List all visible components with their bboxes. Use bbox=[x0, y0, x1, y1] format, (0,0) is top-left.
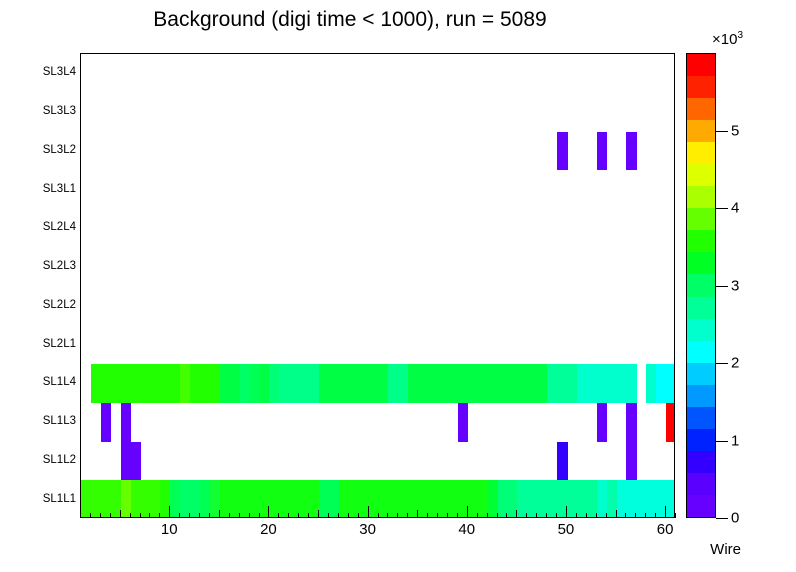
x-tick bbox=[536, 513, 537, 518]
x-tick bbox=[635, 513, 636, 518]
heatmap-cell bbox=[626, 403, 637, 442]
color-scale-band bbox=[687, 451, 715, 473]
heatmap-cell bbox=[626, 364, 637, 403]
heatmap-cell bbox=[121, 403, 132, 442]
y-axis-label-sl1l1: SL1L1 bbox=[4, 493, 76, 505]
color-scale-label-1: 1 bbox=[731, 432, 739, 449]
color-scale-band bbox=[687, 142, 715, 164]
x-tick bbox=[140, 513, 141, 518]
x-tick bbox=[477, 513, 478, 518]
x-tick bbox=[229, 513, 230, 518]
color-scale-band bbox=[687, 341, 715, 363]
y-axis-label-sl1l4: SL1L4 bbox=[4, 376, 76, 388]
heatmap-cell bbox=[101, 403, 112, 442]
color-scale-band bbox=[687, 319, 715, 341]
x-tick bbox=[298, 513, 299, 518]
color-scale-tick bbox=[716, 441, 728, 442]
color-scale-bar bbox=[686, 53, 716, 518]
x-tick bbox=[288, 513, 289, 518]
x-tick bbox=[368, 506, 369, 518]
x-tick bbox=[397, 513, 398, 518]
color-scale-band bbox=[687, 76, 715, 98]
x-tick bbox=[328, 513, 329, 518]
color-scale-exponent: ×103 bbox=[712, 30, 743, 48]
heatmap-cell bbox=[626, 442, 637, 481]
x-tick bbox=[159, 513, 160, 518]
heatmap-cell bbox=[557, 132, 568, 171]
x-tick bbox=[645, 513, 646, 518]
heatmap-cell bbox=[597, 132, 608, 171]
x-tick bbox=[130, 513, 131, 518]
x-tick bbox=[268, 506, 269, 518]
color-scale-tick bbox=[716, 286, 728, 287]
y-axis-label-sl2l4: SL2L4 bbox=[4, 221, 76, 233]
root-canvas: Background (digi time < 1000), run = 508… bbox=[0, 0, 796, 572]
x-tick bbox=[407, 513, 408, 518]
x-tick bbox=[497, 513, 498, 518]
x-tick bbox=[90, 513, 91, 518]
x-axis-label-20: 20 bbox=[260, 521, 277, 538]
x-tick bbox=[606, 513, 607, 518]
color-scale-label-4: 4 bbox=[731, 200, 739, 217]
heatmap-cell bbox=[458, 403, 469, 442]
x-tick bbox=[655, 513, 656, 518]
x-tick bbox=[625, 513, 626, 518]
heatmap-cell bbox=[131, 442, 142, 481]
x-tick bbox=[387, 513, 388, 518]
color-scale-band bbox=[687, 473, 715, 495]
x-tick bbox=[487, 513, 488, 518]
color-scale-tick bbox=[716, 208, 728, 209]
y-axis-label-sl2l2: SL2L2 bbox=[4, 299, 76, 311]
x-tick bbox=[259, 513, 260, 518]
x-tick bbox=[506, 513, 507, 518]
color-scale-tick bbox=[716, 131, 728, 132]
y-axis-label-sl1l2: SL1L2 bbox=[4, 454, 76, 466]
color-scale-band bbox=[687, 495, 715, 517]
color-scale-label-3: 3 bbox=[731, 277, 739, 294]
x-tick bbox=[576, 513, 577, 518]
x-tick bbox=[665, 506, 666, 518]
y-axis-label-sl2l1: SL2L1 bbox=[4, 338, 76, 350]
color-scale-exponent-power: 3 bbox=[737, 30, 743, 41]
x-tick bbox=[586, 513, 587, 518]
x-tick bbox=[209, 513, 210, 518]
y-axis-label-sl3l2: SL3L2 bbox=[4, 144, 76, 156]
x-tick bbox=[100, 513, 101, 518]
x-tick bbox=[556, 513, 557, 518]
x-axis-label-10: 10 bbox=[161, 521, 178, 538]
x-tick bbox=[338, 513, 339, 518]
x-tick bbox=[516, 510, 517, 518]
y-axis-label-sl3l1: SL3L1 bbox=[4, 183, 76, 195]
x-tick bbox=[417, 510, 418, 518]
color-scale-band bbox=[687, 230, 715, 252]
y-axis-label-sl3l4: SL3L4 bbox=[4, 66, 76, 78]
x-axis-label-40: 40 bbox=[458, 521, 475, 538]
color-scale-label-2: 2 bbox=[731, 355, 739, 372]
x-tick bbox=[249, 513, 250, 518]
heatmap-cell bbox=[666, 403, 674, 442]
color-scale-band bbox=[687, 186, 715, 208]
color-scale-band bbox=[687, 429, 715, 451]
color-scale-tick bbox=[716, 518, 728, 519]
color-scale-band bbox=[687, 252, 715, 274]
x-tick bbox=[199, 513, 200, 518]
x-tick bbox=[169, 506, 170, 518]
x-tick bbox=[110, 513, 111, 518]
x-axis-title: Wire bbox=[710, 541, 741, 558]
x-tick bbox=[427, 513, 428, 518]
color-scale-multiplier: ×10 bbox=[712, 31, 737, 48]
color-scale-band bbox=[687, 297, 715, 319]
y-axis-labels: SL3L4SL3L3SL3L2SL3L1SL2L4SL2L3SL2L2SL2L1… bbox=[0, 53, 76, 518]
color-scale-band bbox=[687, 274, 715, 296]
heatmap-cell bbox=[597, 403, 608, 442]
heatmap-cells bbox=[81, 54, 674, 517]
color-scale-label-0: 0 bbox=[731, 510, 739, 527]
heatmap-cell bbox=[626, 132, 637, 171]
x-tick bbox=[239, 513, 240, 518]
color-scale-band bbox=[687, 120, 715, 142]
x-tick bbox=[278, 513, 279, 518]
y-axis-label-sl1l3: SL1L3 bbox=[4, 415, 76, 427]
color-scale-band bbox=[687, 164, 715, 186]
color-scale-band bbox=[687, 98, 715, 120]
x-tick bbox=[546, 513, 547, 518]
x-tick bbox=[566, 506, 567, 518]
x-tick bbox=[348, 513, 349, 518]
color-scale-band bbox=[687, 407, 715, 429]
color-scale-band bbox=[687, 385, 715, 407]
x-tick bbox=[457, 513, 458, 518]
x-tick bbox=[675, 513, 676, 518]
x-tick bbox=[437, 513, 438, 518]
color-scale-label-5: 5 bbox=[731, 122, 739, 139]
x-tick bbox=[179, 513, 180, 518]
color-scale-band bbox=[687, 208, 715, 230]
x-tick bbox=[219, 510, 220, 518]
x-axis-label-50: 50 bbox=[558, 521, 575, 538]
color-scale-band bbox=[687, 54, 715, 76]
x-tick bbox=[616, 510, 617, 518]
plot-frame bbox=[80, 53, 675, 518]
x-tick bbox=[447, 513, 448, 518]
x-tick bbox=[358, 513, 359, 518]
x-tick bbox=[526, 513, 527, 518]
heatmap-cell bbox=[666, 480, 674, 517]
x-tick bbox=[378, 513, 379, 518]
heatmap-cell bbox=[557, 442, 568, 481]
chart-title: Background (digi time < 1000), run = 508… bbox=[0, 8, 700, 32]
y-axis-label-sl2l3: SL2L3 bbox=[4, 260, 76, 272]
heatmap-cell bbox=[666, 364, 674, 403]
color-scale-band bbox=[687, 363, 715, 385]
x-axis-label-60: 60 bbox=[657, 521, 674, 538]
color-scale-tick bbox=[716, 363, 728, 364]
x-axis-label-30: 30 bbox=[359, 521, 376, 538]
x-tick bbox=[596, 513, 597, 518]
x-tick bbox=[120, 510, 121, 518]
y-axis-label-sl3l3: SL3L3 bbox=[4, 105, 76, 117]
x-tick bbox=[149, 513, 150, 518]
x-tick bbox=[308, 513, 309, 518]
x-tick bbox=[189, 513, 190, 518]
x-tick bbox=[467, 506, 468, 518]
x-tick bbox=[318, 510, 319, 518]
x-tick bbox=[80, 513, 81, 518]
